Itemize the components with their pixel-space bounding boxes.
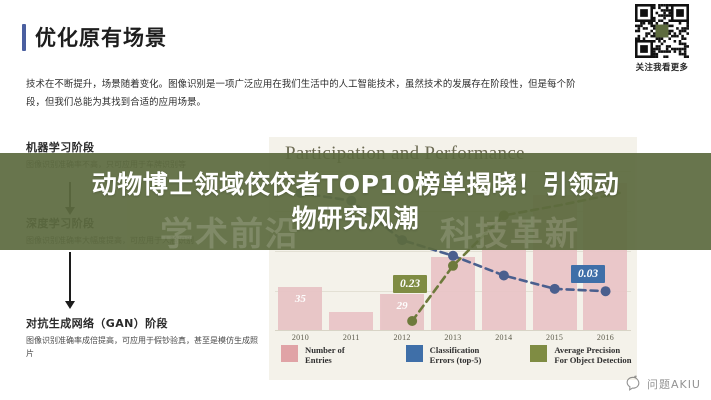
body-line-2: 段，但我们总能为其找到合适的应用场景。 [26, 94, 651, 112]
legend-label-line1: Classification [430, 345, 482, 355]
headline-line-1: 动物博士领域佼佼者TOP10榜单揭晓！引领动 [92, 168, 619, 202]
legend-label-line2: For Object Detection [554, 355, 631, 365]
corner-watermark: 问题AKIU [623, 374, 701, 394]
chart-x-axis-labels: 2010201120122013201420152016 [275, 333, 631, 342]
headline-text: 动物博士领域佼佼者TOP10榜单揭晓！引领动 物研究风潮 [0, 153, 711, 250]
legend-label: Average Precision For Object Detection [554, 345, 631, 365]
qr-caption: 关注我看更多 [625, 61, 699, 73]
slide-header: 优化原有场景 [22, 22, 167, 52]
slide-body-text: 技术在不断提升，场景随着变化。图像识别是一项广泛应用在我们生活中的人工智能技术，… [26, 76, 651, 112]
legend-label: Number of Entries [305, 345, 345, 365]
data-point [550, 284, 560, 294]
legend-swatch [281, 345, 298, 362]
arrow-down-icon-2 [69, 252, 71, 302]
x-tick-label: 2015 [532, 333, 577, 342]
x-tick-label: 2014 [482, 333, 527, 342]
x-tick-label: 2010 [278, 333, 323, 342]
x-tick-label: 2016 [583, 333, 628, 342]
data-point [448, 261, 458, 271]
legend-item-classification-errors: Classification Errors (top-5) [406, 345, 509, 365]
legend-label-line1: Number of [305, 345, 345, 355]
body-line-1: 技术在不断提升，场景随着变化。图像识别是一项广泛应用在我们生活中的人工智能技术，… [26, 76, 651, 94]
legend-label-line1: Average Precision [554, 345, 631, 355]
legend-label: Classification Errors (top-5) [430, 345, 482, 365]
stage-name: 对抗生成网络（GAN）阶段 [26, 316, 262, 332]
data-point [407, 316, 417, 326]
qr-code-icon[interactable] [635, 4, 689, 58]
brand-logo-icon [623, 374, 643, 394]
x-tick-label: 2011 [329, 333, 374, 342]
annotation-average-precision-2013: 0.23 [393, 275, 427, 293]
slide-canvas: 优化原有场景 技术在不断提升，场景随着变化。图像识别是一项广泛应用在我们生活中的… [0, 0, 711, 400]
data-point [448, 251, 458, 261]
stage-item-gan: 对抗生成网络（GAN）阶段 图像识别准确率成倍提高，可应用于假钞验真，甚至是模仿… [26, 316, 262, 360]
legend-swatch [406, 345, 423, 362]
x-tick-label: 2012 [380, 333, 425, 342]
page-title: 优化原有场景 [35, 22, 167, 52]
chart-legend: Number of Entries Classification Errors … [281, 345, 633, 365]
data-point [601, 286, 611, 296]
annotation-classification-error-2016: 0.03 [571, 265, 605, 283]
stage-desc: 图像识别准确率成倍提高，可应用于假钞验真，甚至是模仿生成照片 [26, 334, 262, 360]
legend-label-line2: Errors (top-5) [430, 355, 482, 365]
x-tick-label: 2013 [431, 333, 476, 342]
title-accent-bar [22, 24, 26, 51]
watermark-text: 问题AKIU [647, 376, 701, 392]
qr-code-block[interactable]: 关注我看更多 [625, 4, 699, 73]
legend-label-line2: Entries [305, 355, 345, 365]
headline-line-2: 物研究风潮 [292, 202, 420, 236]
data-point [499, 270, 509, 280]
legend-swatch [530, 345, 547, 362]
legend-item-number-of-entries: Number of Entries [281, 345, 384, 365]
legend-item-average-precision: Average Precision For Object Detection [530, 345, 633, 365]
